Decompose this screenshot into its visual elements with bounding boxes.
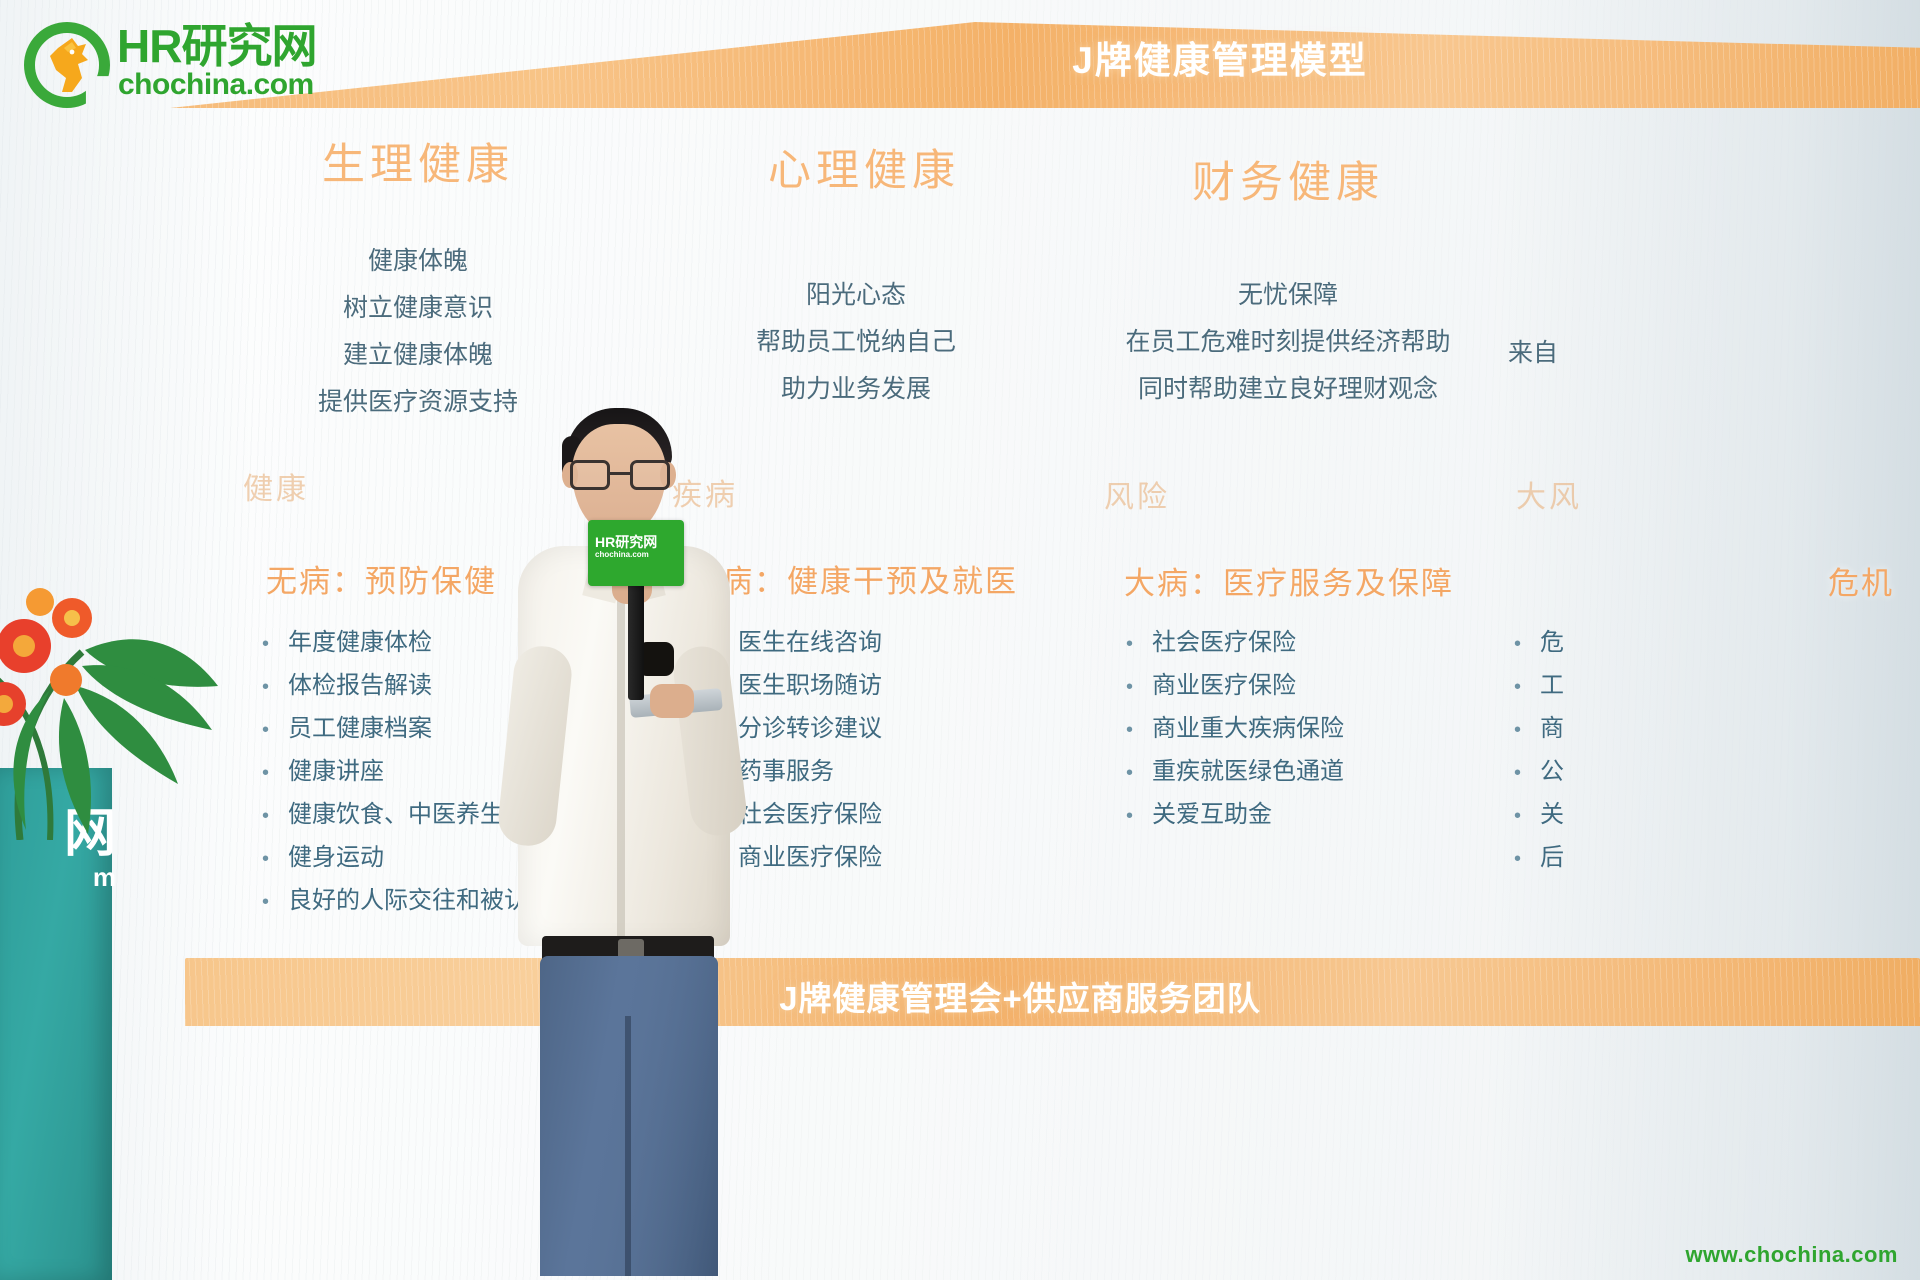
bullet-dot-icon: • [262, 839, 288, 880]
mic-flag-logo: HR研究网 chochina.com [588, 520, 684, 586]
list-item-label: 危 [1540, 622, 1564, 663]
pillar-desc-3: 无忧保障 在员工危难时刻提供经济帮助 同时帮助建立良好理财观念 [1078, 272, 1498, 413]
bullet-dot-icon: • [262, 796, 288, 837]
list-item-label: 商 [1540, 708, 1564, 749]
list-item: •年度健康体检 [262, 622, 528, 665]
list-item: •关 [1514, 794, 1564, 837]
pillar-heading-1: 生理健康 [322, 130, 514, 192]
list-item-label: 药事服务 [738, 751, 834, 792]
bullet-dot-icon: • [262, 753, 288, 794]
bullet-dot-icon: • [1126, 624, 1152, 665]
podium-logo-sub: m [0, 862, 116, 892]
bullet-dot-icon: • [1514, 624, 1540, 665]
list-item: •危 [1514, 622, 1564, 665]
bullet-dot-icon: • [1514, 710, 1540, 751]
list-item: •后 [1514, 837, 1564, 880]
list-item: •商业医疗保险 [1126, 665, 1344, 708]
site-watermark: www.chochina.com [1685, 1242, 1898, 1268]
hr-logo: HR研究网 chochina.com [22, 18, 352, 110]
list-item-label: 商业医疗保险 [738, 837, 882, 878]
list-item: •社会医疗保险 [1126, 622, 1344, 665]
mid-label-bigrisk: 大风 [1516, 472, 1582, 516]
list-item: •公 [1514, 751, 1564, 794]
stage-list-1: •年度健康体检 •体检报告解读 •员工健康档案 •健康讲座 •健康饮食、中医养生… [262, 622, 528, 923]
glasses-icon [570, 460, 670, 490]
bullet-dot-icon: • [1126, 796, 1152, 837]
list-item-label: 公 [1540, 751, 1564, 792]
slide-title: J牌健康管理模型 [910, 30, 1530, 84]
microphone-handle [628, 582, 644, 700]
pillar-heading-2: 心理健康 [768, 136, 960, 198]
list-item-label: 员工健康档案 [288, 708, 432, 749]
list-item-label: 良好的人际交往和被认 [288, 880, 528, 921]
list-item-label: 后 [1540, 837, 1564, 878]
list-item-label: 工 [1540, 665, 1564, 706]
list-item: •商 [1514, 708, 1564, 751]
bullet-dot-icon: • [1514, 839, 1540, 880]
screenshot-root: J牌健康管理模型 生理健康 心理健康 财务健康 健康体魄 树立健康意识 建立健康… [0, 0, 1920, 1280]
logo-domain: chochina.com [118, 68, 314, 102]
list-item: •重疾就医绿色通道 [1126, 751, 1344, 794]
stage-heading-4: 危机 [1828, 558, 1894, 603]
bullet-dot-icon: • [262, 882, 288, 923]
bottom-banner-title: J牌健康管理会+供应商服务团队 [640, 972, 1400, 1020]
mid-label-risk: 风险 [1104, 472, 1170, 516]
list-item-label: 关 [1540, 794, 1564, 835]
list-item: •健康讲座 [262, 751, 528, 794]
speaker-trousers [540, 956, 718, 1276]
bullet-dot-icon: • [1126, 710, 1152, 751]
mic-logo-en: chochina.com [595, 550, 677, 560]
bullet-dot-icon: • [1514, 753, 1540, 794]
horse-icon [42, 34, 94, 96]
pillar-desc-2: 阳光心态 帮助员工悦纳自己 助力业务发展 [706, 272, 1006, 413]
list-item-label: 医生职场随访 [738, 665, 882, 706]
list-item-label: 健康饮食、中医养生 [288, 794, 504, 835]
microphone: HR研究网 chochina.com [588, 520, 688, 700]
list-item-label: 商业医疗保险 [1152, 665, 1296, 706]
stage-list-4: •危 •工 •商 •公 •关 •后 [1514, 622, 1564, 880]
mid-label-health: 健康 [243, 464, 309, 508]
bullet-dot-icon: • [1126, 753, 1152, 794]
mic-logo-cn: HR研究网 [595, 534, 677, 550]
list-item: •健身运动 [262, 837, 528, 880]
list-item-label: 体检报告解读 [288, 665, 432, 706]
list-item: •员工健康档案 [262, 708, 528, 751]
list-item: •关爱互助金 [1126, 794, 1344, 837]
bullet-dot-icon: • [1126, 667, 1152, 708]
flower-arrangement [0, 540, 220, 840]
list-item-label: 医生在线咨询 [738, 622, 882, 663]
bullet-dot-icon: • [262, 667, 288, 708]
pillar-desc-4: 来自 [1508, 330, 1628, 377]
bullet-dot-icon: • [1514, 796, 1540, 837]
list-item-label: 年度健康体检 [288, 622, 432, 663]
bullet-dot-icon: • [262, 624, 288, 665]
list-item-label: 商业重大疾病保险 [1152, 708, 1344, 749]
list-item-label: 健康讲座 [288, 751, 384, 792]
list-item-label: 分诊转诊建议 [738, 708, 882, 749]
logo-wordmark: HR研究网 [117, 22, 316, 70]
list-item-label: 健身运动 [288, 837, 384, 878]
stage-heading-3: 大病：医疗服务及保障 [1124, 558, 1454, 603]
list-item-label: 社会医疗保险 [738, 794, 882, 835]
stage-heading-1: 无病：预防保健 [266, 556, 497, 601]
stage-list-3: •社会医疗保险 •商业医疗保险 •商业重大疾病保险 •重疾就医绿色通道 •关爱互… [1126, 622, 1344, 837]
list-item: •工 [1514, 665, 1564, 708]
pillar-heading-3: 财务健康 [1192, 148, 1384, 210]
list-item-label: 关爱互助金 [1152, 794, 1272, 835]
bullet-dot-icon: • [262, 710, 288, 751]
list-item: •良好的人际交往和被认 [262, 880, 528, 923]
list-item: •体检报告解读 [262, 665, 528, 708]
bullet-dot-icon: • [1514, 667, 1540, 708]
list-item-label: 社会医疗保险 [1152, 622, 1296, 663]
list-item: •商业重大疾病保险 [1126, 708, 1344, 751]
list-item: •健康饮食、中医养生 [262, 794, 528, 837]
list-item-label: 重疾就医绿色通道 [1152, 751, 1344, 792]
